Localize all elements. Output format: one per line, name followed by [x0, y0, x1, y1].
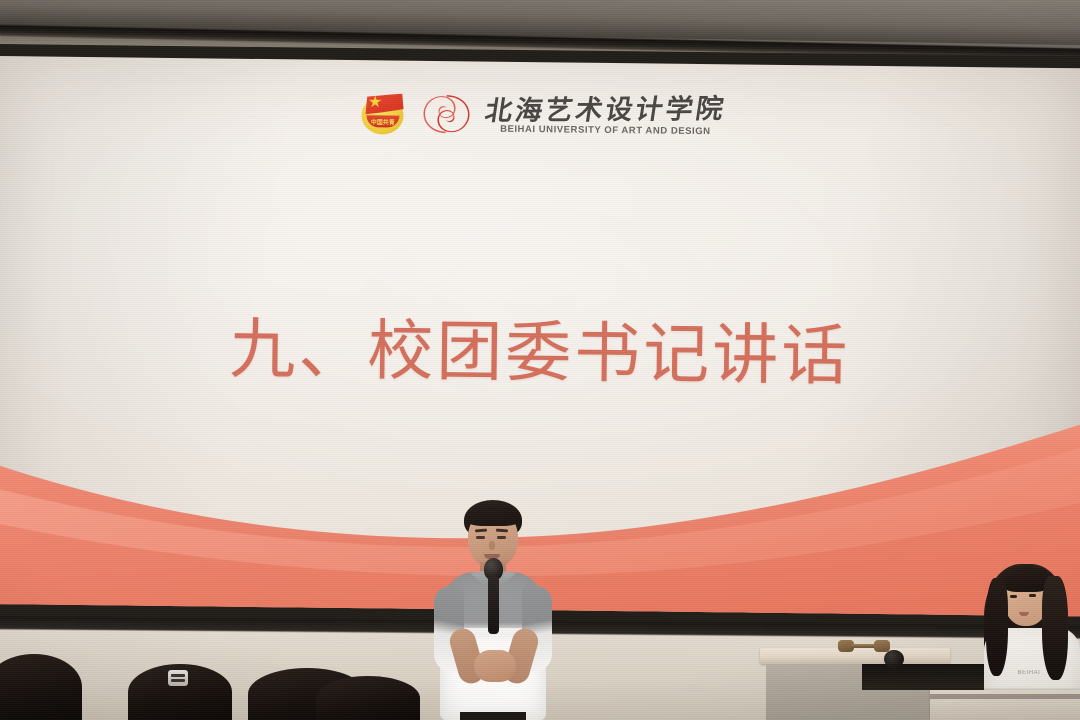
hair-clip-icon [168, 670, 188, 686]
desk-microphone-icon [884, 650, 904, 672]
slide-logo-row: 中国共青团 北海艺术设计学院 BEIHAI UNIVERSITY OF ART … [0, 86, 1080, 144]
university-wordmark: 北海艺术设计学院 BEIHAI UNIVERSITY OF ART AND DE… [485, 95, 725, 137]
emblem-ribbon-text: 中国共青团 [368, 116, 398, 127]
university-name-cn: 北海艺术设计学院 [483, 95, 728, 124]
attendee-shirt-print: BEIHAI [1008, 670, 1050, 682]
auditorium-photo: 中国共青团 北海艺术设计学院 BEIHAI UNIVERSITY OF ART … [0, 0, 1080, 720]
communist-youth-league-emblem-icon: 中国共青团 [359, 90, 408, 137]
audience-head [316, 676, 420, 720]
red-spiral-logo-icon [421, 92, 471, 137]
slide-headline: 九、校团委书记讲话 [0, 308, 1080, 398]
handheld-microphone-icon [484, 558, 503, 634]
dark-console [862, 664, 990, 690]
right-desk [930, 690, 1080, 720]
speaker-with-microphone [418, 500, 568, 720]
university-name-en: BEIHAI UNIVERSITY OF ART AND DESIGN [500, 123, 711, 136]
